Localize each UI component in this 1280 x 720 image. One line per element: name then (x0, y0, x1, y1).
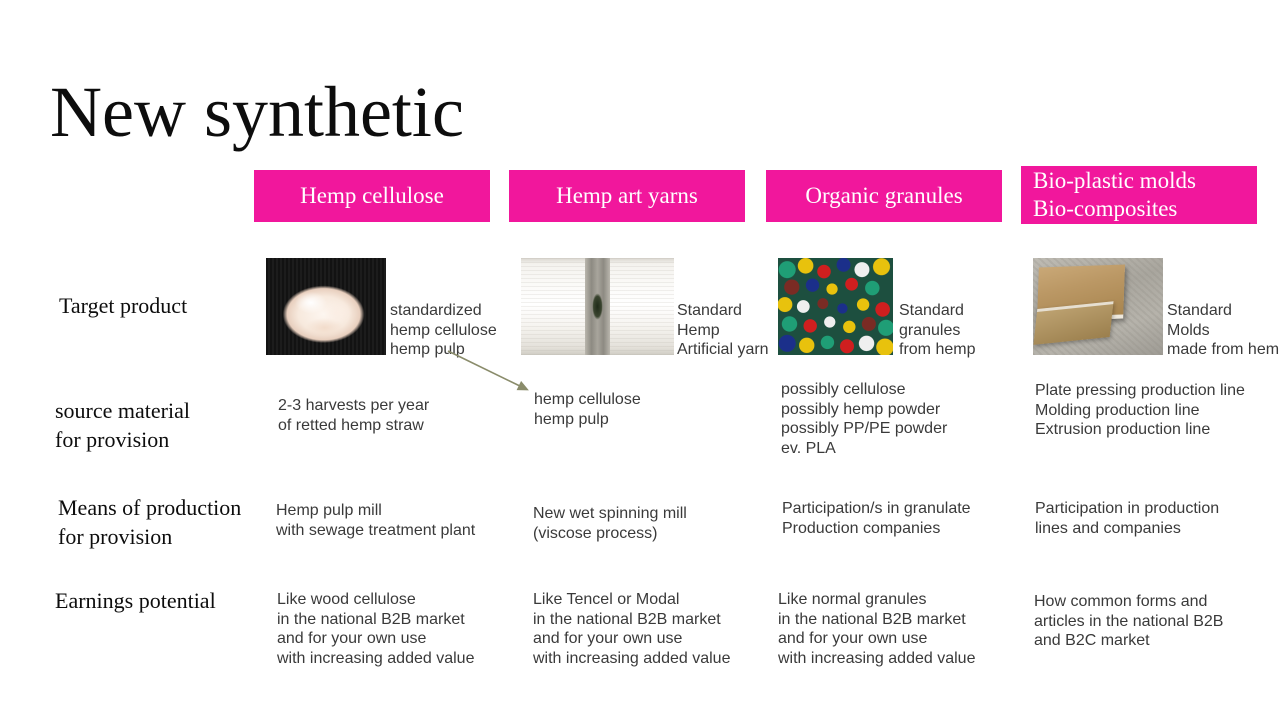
page-title: New synthetic (50, 72, 464, 152)
source-material-cell-3: possibly cellulose possibly hemp powder … (781, 380, 947, 458)
means-of-production-cell-3: Participation/s in granulate Production … (782, 499, 971, 538)
target-product-caption-3: Standard granules from hemp (899, 301, 975, 360)
earnings-potential-cell-2: Like Tencel or Modal in the national B2B… (533, 590, 730, 668)
source-material-cell-4: Plate pressing production line Molding p… (1035, 381, 1245, 440)
row-label-target-product: Target product (59, 291, 187, 320)
source-material-cell-2: hemp cellulose hemp pulp (534, 390, 641, 429)
slide-canvas: New synthetic Hemp cellulose Hemp art ya… (0, 0, 1280, 720)
column-header-label: Organic granules (805, 182, 962, 210)
hemp-pulp-photo (266, 258, 386, 355)
column-header-organic-granules[interactable]: Organic granules (766, 170, 1002, 222)
means-of-production-cell-4: Participation in production lines and co… (1035, 499, 1219, 538)
target-product-caption-1: standardized hemp cellulose hemp pulp (390, 301, 497, 360)
column-header-label-line1: Bio-plastic molds (1033, 167, 1196, 195)
column-header-label-line2: Bio-composites (1033, 195, 1177, 223)
target-product-caption-2: Standard Hemp Artificial yarn (677, 301, 769, 360)
source-material-cell-1: 2-3 harvests per year of retted hemp str… (278, 396, 429, 435)
earnings-potential-cell-4: How common forms and articles in the nat… (1034, 592, 1223, 651)
target-product-caption-4: Standard Molds made from hemp (1167, 301, 1280, 360)
column-header-label: Hemp cellulose (300, 182, 444, 210)
column-header-hemp-art-yarns[interactable]: Hemp art yarns (509, 170, 745, 222)
earnings-potential-cell-3: Like normal granules in the national B2B… (778, 590, 975, 668)
earnings-potential-cell-1: Like wood cellulose in the national B2B … (277, 590, 474, 668)
colored-granules-photo (778, 258, 893, 355)
column-header-label: Hemp art yarns (556, 182, 698, 210)
row-label-means-of-production: Means of production for provision (58, 493, 241, 551)
means-of-production-cell-1: Hemp pulp mill with sewage treatment pla… (276, 501, 475, 540)
yarn-bobbins-photo (521, 258, 674, 355)
column-header-hemp-cellulose[interactable]: Hemp cellulose (254, 170, 490, 222)
bio-composite-board-photo (1033, 258, 1163, 355)
column-header-bio-plastic-molds[interactable]: Bio-plastic molds Bio-composites (1021, 166, 1257, 224)
means-of-production-cell-2: New wet spinning mill (viscose process) (533, 504, 687, 543)
row-label-earnings-potential: Earnings potential (55, 586, 216, 615)
row-label-source-material: source material for provision (55, 396, 190, 454)
